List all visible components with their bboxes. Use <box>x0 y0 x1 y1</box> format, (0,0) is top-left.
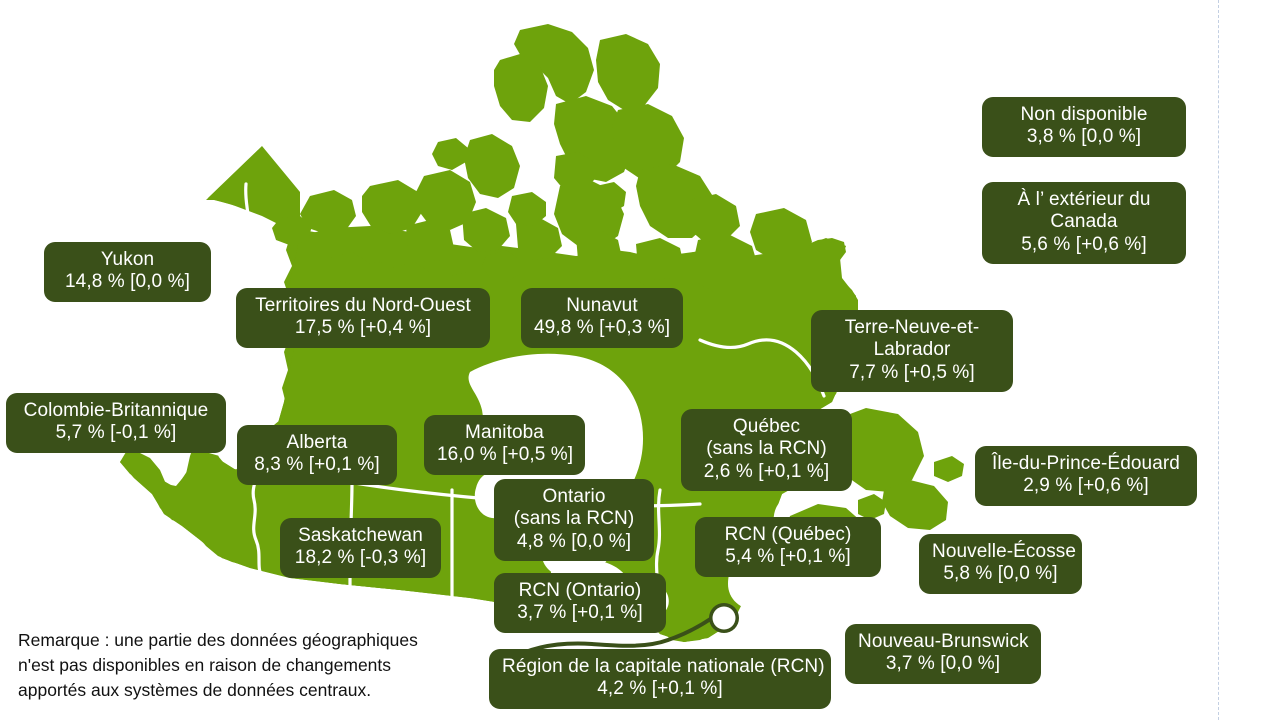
label-nunavut-value: 49,8 % [+0,3 %] <box>534 317 670 339</box>
label-saskatchewan[interactable]: Saskatchewan 18,2 % [-0,3 %] <box>280 518 441 578</box>
label-quebec-title: Québec <box>694 416 839 438</box>
label-hors-canada-title: À l’ extérieur du <box>995 189 1173 211</box>
label-nouvelle-ecosse[interactable]: Nouvelle-Écosse 5,8 % [0,0 %] <box>919 534 1082 594</box>
label-territoires-du-nord-ouest[interactable]: Territoires du Nord-Ouest 17,5 % [+0,4 %… <box>236 288 490 348</box>
label-ontario-subtitle: (sans la RCN) <box>507 508 641 530</box>
label-nouveau-brunswick[interactable]: Nouveau-Brunswick 3,7 % [0,0 %] <box>845 624 1041 684</box>
label-rcn-quebec-value: 5,4 % [+0,1 %] <box>708 546 868 568</box>
label-ontario-title: Ontario <box>507 486 641 508</box>
label-nunavut-title: Nunavut <box>534 295 670 317</box>
label-alberta-title: Alberta <box>250 432 384 454</box>
label-nb-value: 3,7 % [0,0 %] <box>858 653 1028 675</box>
label-rcn-quebec[interactable]: RCN (Québec) 5,4 % [+0,1 %] <box>695 517 881 577</box>
label-nl-title: Terre-Neuve-et- <box>824 317 1000 339</box>
label-manitoba-title: Manitoba <box>437 422 572 444</box>
label-rcn-ontario-value: 3,7 % [+0,1 %] <box>507 602 653 624</box>
label-rcn-value: 4,2 % [+0,1 %] <box>502 678 818 700</box>
label-nwt-value: 17,5 % [+0,4 %] <box>249 317 477 339</box>
label-ile-du-prince-edouard[interactable]: Île-du-Prince-Édouard 2,9 % [+0,6 %] <box>975 446 1197 506</box>
label-hors-canada-subtitle: Canada <box>995 211 1173 233</box>
label-ontario-value: 4,8 % [0,0 %] <box>507 531 641 553</box>
label-nl-value: 7,7 % [+0,5 %] <box>824 362 1000 384</box>
label-quebec-value: 2,6 % [+0,1 %] <box>694 461 839 483</box>
label-saskatchewan-value: 18,2 % [-0,3 %] <box>293 547 428 569</box>
label-non-disponible[interactable]: Non disponible 3,8 % [0,0 %] <box>982 97 1186 157</box>
footnote-remarque: Remarque : une partie des données géogra… <box>18 628 488 703</box>
label-hors-canada-value: 5,6 % [+0,6 %] <box>995 234 1173 256</box>
label-bc-value: 5,7 % [-0,1 %] <box>19 422 213 444</box>
slide-guide-line <box>1218 0 1219 720</box>
label-nunavut[interactable]: Nunavut 49,8 % [+0,3 %] <box>521 288 683 348</box>
label-rcn-ontario-title: RCN (Ontario) <box>507 580 653 602</box>
label-alberta[interactable]: Alberta 8,3 % [+0,1 %] <box>237 425 397 485</box>
label-bc-title: Colombie-Britannique <box>19 400 213 422</box>
label-a-l-exterieur-du-canada[interactable]: À l’ extérieur du Canada 5,6 % [+0,6 %] <box>982 182 1186 264</box>
label-terre-neuve-et-labrador[interactable]: Terre-Neuve-et- Labrador 7,7 % [+0,5 %] <box>811 310 1013 392</box>
label-yukon[interactable]: Yukon 14,8 % [0,0 %] <box>44 242 211 302</box>
label-manitoba[interactable]: Manitoba 16,0 % [+0,5 %] <box>424 415 585 475</box>
label-ns-title: Nouvelle-Écosse <box>932 541 1069 563</box>
ncr-marker-dot <box>713 607 736 630</box>
label-saskatchewan-title: Saskatchewan <box>293 525 428 547</box>
label-pei-title: Île-du-Prince-Édouard <box>988 453 1184 475</box>
label-yukon-value: 14,8 % [0,0 %] <box>57 271 198 293</box>
label-colombie-britannique[interactable]: Colombie-Britannique 5,7 % [-0,1 %] <box>6 393 226 453</box>
label-rcn-title: Région de la capitale nationale (RCN) <box>502 656 818 678</box>
label-pei-value: 2,9 % [+0,6 %] <box>988 475 1184 497</box>
label-ns-value: 5,8 % [0,0 %] <box>932 563 1069 585</box>
label-yukon-title: Yukon <box>57 249 198 271</box>
label-non-disponible-title: Non disponible <box>995 104 1173 126</box>
label-rcn-ontario[interactable]: RCN (Ontario) 3,7 % [+0,1 %] <box>494 573 666 633</box>
label-nb-title: Nouveau-Brunswick <box>858 631 1028 653</box>
label-ontario[interactable]: Ontario (sans la RCN) 4,8 % [0,0 %] <box>494 479 654 561</box>
label-nl-subtitle: Labrador <box>824 339 1000 361</box>
figure-canvas: Yukon 14,8 % [0,0 %] Territoires du Nord… <box>0 0 1280 720</box>
label-region-capitale-nationale[interactable]: Région de la capitale nationale (RCN) 4,… <box>489 649 831 709</box>
label-nwt-title: Territoires du Nord-Ouest <box>249 295 477 317</box>
label-quebec-subtitle: (sans la RCN) <box>694 438 839 460</box>
label-rcn-quebec-title: RCN (Québec) <box>708 524 868 546</box>
label-non-disponible-value: 3,8 % [0,0 %] <box>995 126 1173 148</box>
label-manitoba-value: 16,0 % [+0,5 %] <box>437 444 572 466</box>
label-alberta-value: 8,3 % [+0,1 %] <box>250 454 384 476</box>
label-quebec[interactable]: Québec (sans la RCN) 2,6 % [+0,1 %] <box>681 409 852 491</box>
